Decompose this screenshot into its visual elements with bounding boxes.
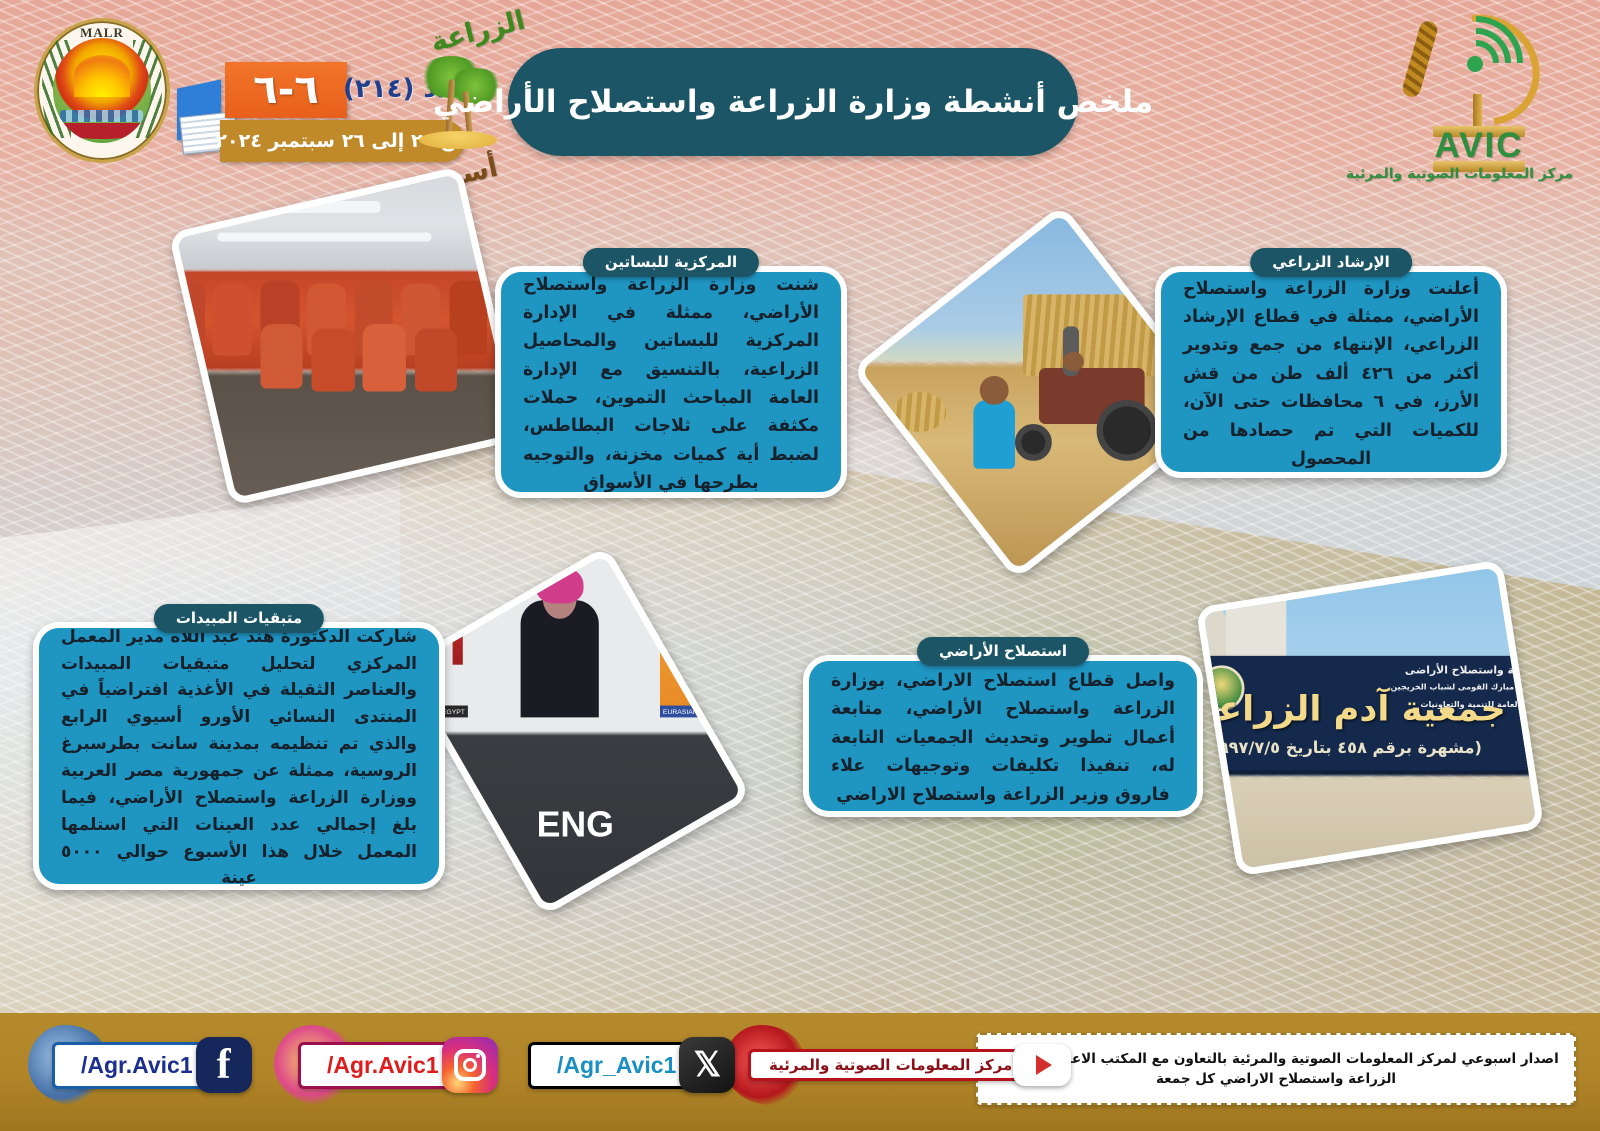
card-central-horticulture-text: شنت وزارة الزراعة واستصلاح الأراضي، ممثل… [523,271,819,498]
social-youtube[interactable]: مركز المعلومات الصوتية والمرئية [748,1037,1071,1093]
avic-logo: AVIC مركز المعلومات الصوتية والمرئية [1381,6,1566,181]
ministry-logo-ring: MALR [34,18,170,163]
conference-screen-label: ENG [537,806,614,847]
card-pesticide-residues-title: متبقيات المبيدات [154,604,324,633]
card-agricultural-extension-title: الإرشاد الزراعي [1250,248,1412,277]
x-twitter-handle[interactable]: /Agr_Avic1 [528,1042,693,1089]
youtube-handle[interactable]: مركز المعلومات الصوتية والمرئية [748,1049,1027,1082]
avic-stem [1473,94,1482,128]
sign-title: جمعية آدم الزراعية [1196,690,1506,731]
signal-dot-icon [1467,56,1483,72]
card-agricultural-extension: الإرشاد الزراعي أعلنت وزارة الزراعة واست… [1155,248,1507,478]
card-central-horticulture-title: المركزية للبساتين [583,248,759,277]
x-twitter-icon[interactable]: 𝕏 [679,1037,735,1093]
sand-mound-icon [419,131,497,149]
social-instagram[interactable]: /Agr.Avic1 [298,1037,498,1093]
sun-icon [74,55,129,97]
youtube-icon[interactable] [1013,1044,1071,1086]
card-agricultural-extension-text: أعلنت وزارة الزراعة واستصلاح الأراضي، مم… [1183,275,1479,473]
card-central-horticulture-body: شنت وزارة الزراعة واستصلاح الأراضي، ممثل… [495,266,847,498]
card-land-reclamation-body: واصل قطاع استصلاح الاراضي، بوزارة الزراع… [803,655,1203,817]
facebook-handle[interactable]: /Agr.Avic1 [52,1042,210,1089]
photo-association-sign: الزراعة واستصلاح الأراضى مشروع مبارك الق… [1196,559,1545,876]
avic-subtitle: مركز المعلومات الصوتية والمرئية [1373,166,1573,182]
page-title: ملخص أنشطة وزارة الزراعة واستصلاح الأراض… [508,48,1078,156]
card-agricultural-extension-body: أعلنت وزارة الزراعة واستصلاح الأراضي، مم… [1155,266,1507,478]
agweek-top-label: الزراعة [428,5,528,58]
card-central-horticulture: المركزية للبساتين شنت وزارة الزراعة واست… [495,248,847,498]
card-pesticide-residues: متبقيات المبيدات شاركت الدكتورة هند عبد … [33,604,445,890]
card-land-reclamation-title: استصلاح الأراضي [917,637,1089,666]
ministry-logo: MALR [34,18,170,163]
card-land-reclamation: استصلاح الأراضي واصل قطاع استصلاح الاراض… [803,637,1203,817]
issue-number-badge-text: ٦-٦ [253,67,318,113]
social-facebook[interactable]: f /Agr.Avic1 [52,1037,252,1093]
card-pesticide-residues-body: شاركت الدكتورة هند عبد اللاه مدير المعمل… [33,622,445,890]
page-title-text: ملخص أنشطة وزارة الزراعة واستصلاح الأراض… [433,84,1153,120]
issue-number-badge: ٦-٦ [225,62,347,118]
sign-subtitle: (مشهرة برقم ٤٥٨ بتاريخ ١٩٩٧/٧/٥) [1201,739,1481,758]
emblem-base-band [58,123,147,139]
photo-association-sign-image: الزراعة واستصلاح الأراضى مشروع مبارك الق… [1196,559,1545,876]
card-land-reclamation-text: واصل قطاع استصلاح الاراضي، بوزارة الزراع… [831,667,1175,809]
infographic-page: MALR ٦-٦ العدد (٢١٤) من ٢٠ إلى ٢٦ سبتمبر… [0,0,1600,1131]
ministry-logo-emblem [53,38,152,144]
footer-bar: f /Agr.Avic1 /Agr.Avic1 𝕏 /Agr_Avic1 مرك… [0,1013,1600,1131]
footer-note-text: اصدار اسبوعي لمركز المعلومات الصوتية وال… [992,1049,1560,1090]
facebook-icon[interactable]: f [196,1037,252,1093]
card-pesticide-residues-text: شاركت الدكتورة هند عبد اللاه مدير المعمل… [61,624,417,893]
instagram-icon[interactable] [442,1037,498,1093]
social-x-twitter[interactable]: 𝕏 /Agr_Avic1 [528,1037,735,1093]
water-icon [60,110,143,123]
avic-wordmark: AVIC [1429,126,1529,166]
instagram-handle[interactable]: /Agr.Avic1 [298,1042,456,1089]
